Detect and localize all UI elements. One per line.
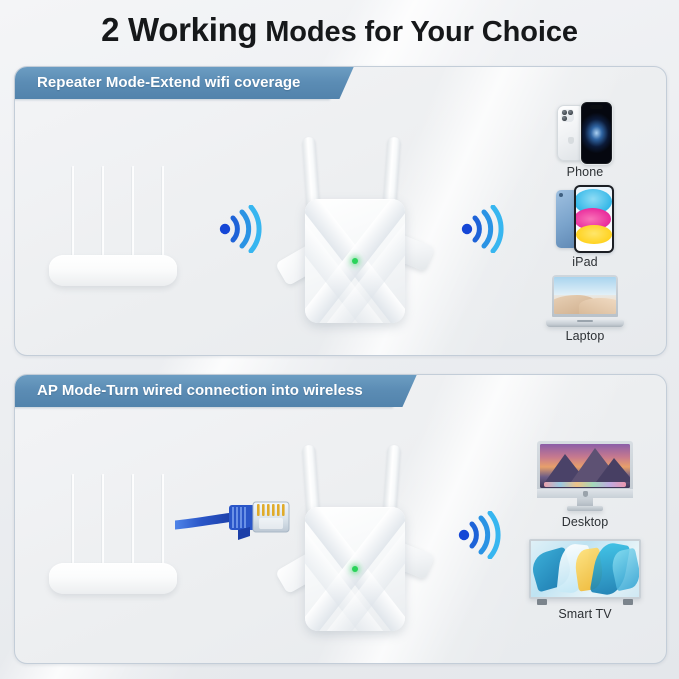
client-device-list-ap: Desktop Smart TV [515,441,655,621]
wifi-router-icon [49,165,177,286]
device-laptop: Laptop [546,275,624,343]
page-title-strong: 2 Working [101,11,257,48]
section-banner-ap: AP Mode-Turn wired connection into wirel… [14,374,393,407]
wifi-extender-device [280,137,430,307]
section-panel-repeater: Repeater Mode-Extend wifi coverage [14,66,667,356]
extender-status-led [352,258,358,264]
extender-status-led [352,566,358,572]
phone-icon [557,101,613,163]
extender-body [305,199,405,323]
device-label-phone: Phone [567,165,604,179]
wifi-extender-device [280,445,430,615]
wifi-signal-icon-right [455,205,507,253]
phone-front-icon [580,101,613,165]
page-title-rest: Modes for Your Choice [257,16,578,48]
section-panel-ap: AP Mode-Turn wired connection into wirel… [14,374,667,664]
device-desktop: Desktop [537,441,633,529]
ipad-front-icon [574,185,614,253]
ipad-icon [556,185,614,253]
page-title: 2 Working Modes for Your Choice [0,11,679,49]
wifi-router-icon [49,473,177,594]
section-banner-label: AP Mode-Turn wired connection into wirel… [37,382,363,399]
device-label-smart-tv: Smart TV [558,607,611,621]
device-label-laptop: Laptop [566,329,605,343]
extender-body [305,507,405,631]
device-label-ipad: iPad [572,255,597,269]
device-phone: Phone [557,101,613,179]
device-label-desktop: Desktop [562,515,609,529]
section-banner-label: Repeater Mode-Extend wifi coverage [37,74,300,91]
section-banner-repeater: Repeater Mode-Extend wifi coverage [14,66,330,99]
infographic-canvas: 2 Working Modes for Your Choice Repeater… [0,0,679,679]
device-ipad: iPad [556,185,614,269]
desktop-icon [537,441,633,513]
device-smart-tv: Smart TV [529,539,641,621]
wifi-signal-icon-left [213,205,265,253]
wifi-signal-icon-right [452,511,504,559]
laptop-icon [546,275,624,327]
client-device-list-repeater: Phone iPad [520,101,650,343]
smart-tv-icon [529,539,641,605]
